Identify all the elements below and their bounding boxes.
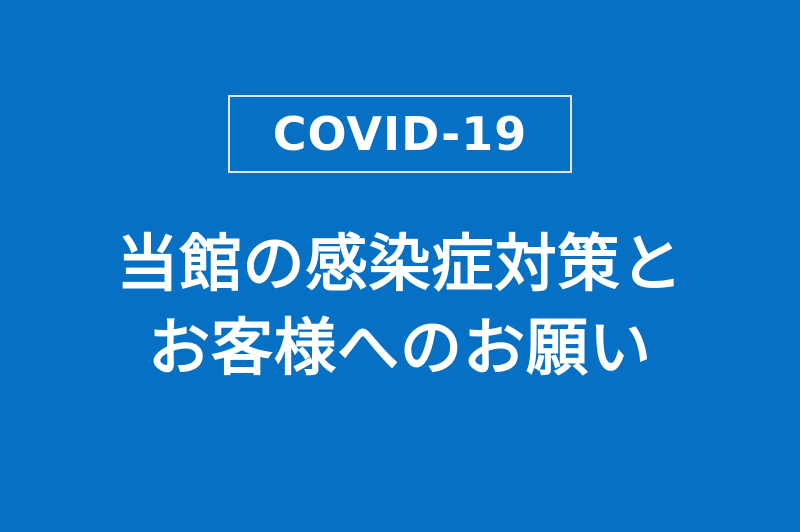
headline-line-1: 当館の感染症対策と: [0, 222, 800, 306]
covid-title-box: COVID-19: [228, 95, 572, 173]
headline-block: 当館の感染症対策と お客様へのお願い: [0, 222, 800, 390]
headline-line-2: お客様へのお願い: [0, 306, 800, 390]
covid-notice-banner: COVID-19 当館の感染症対策と お客様へのお願い: [0, 0, 800, 532]
page-title: COVID-19: [273, 111, 528, 157]
